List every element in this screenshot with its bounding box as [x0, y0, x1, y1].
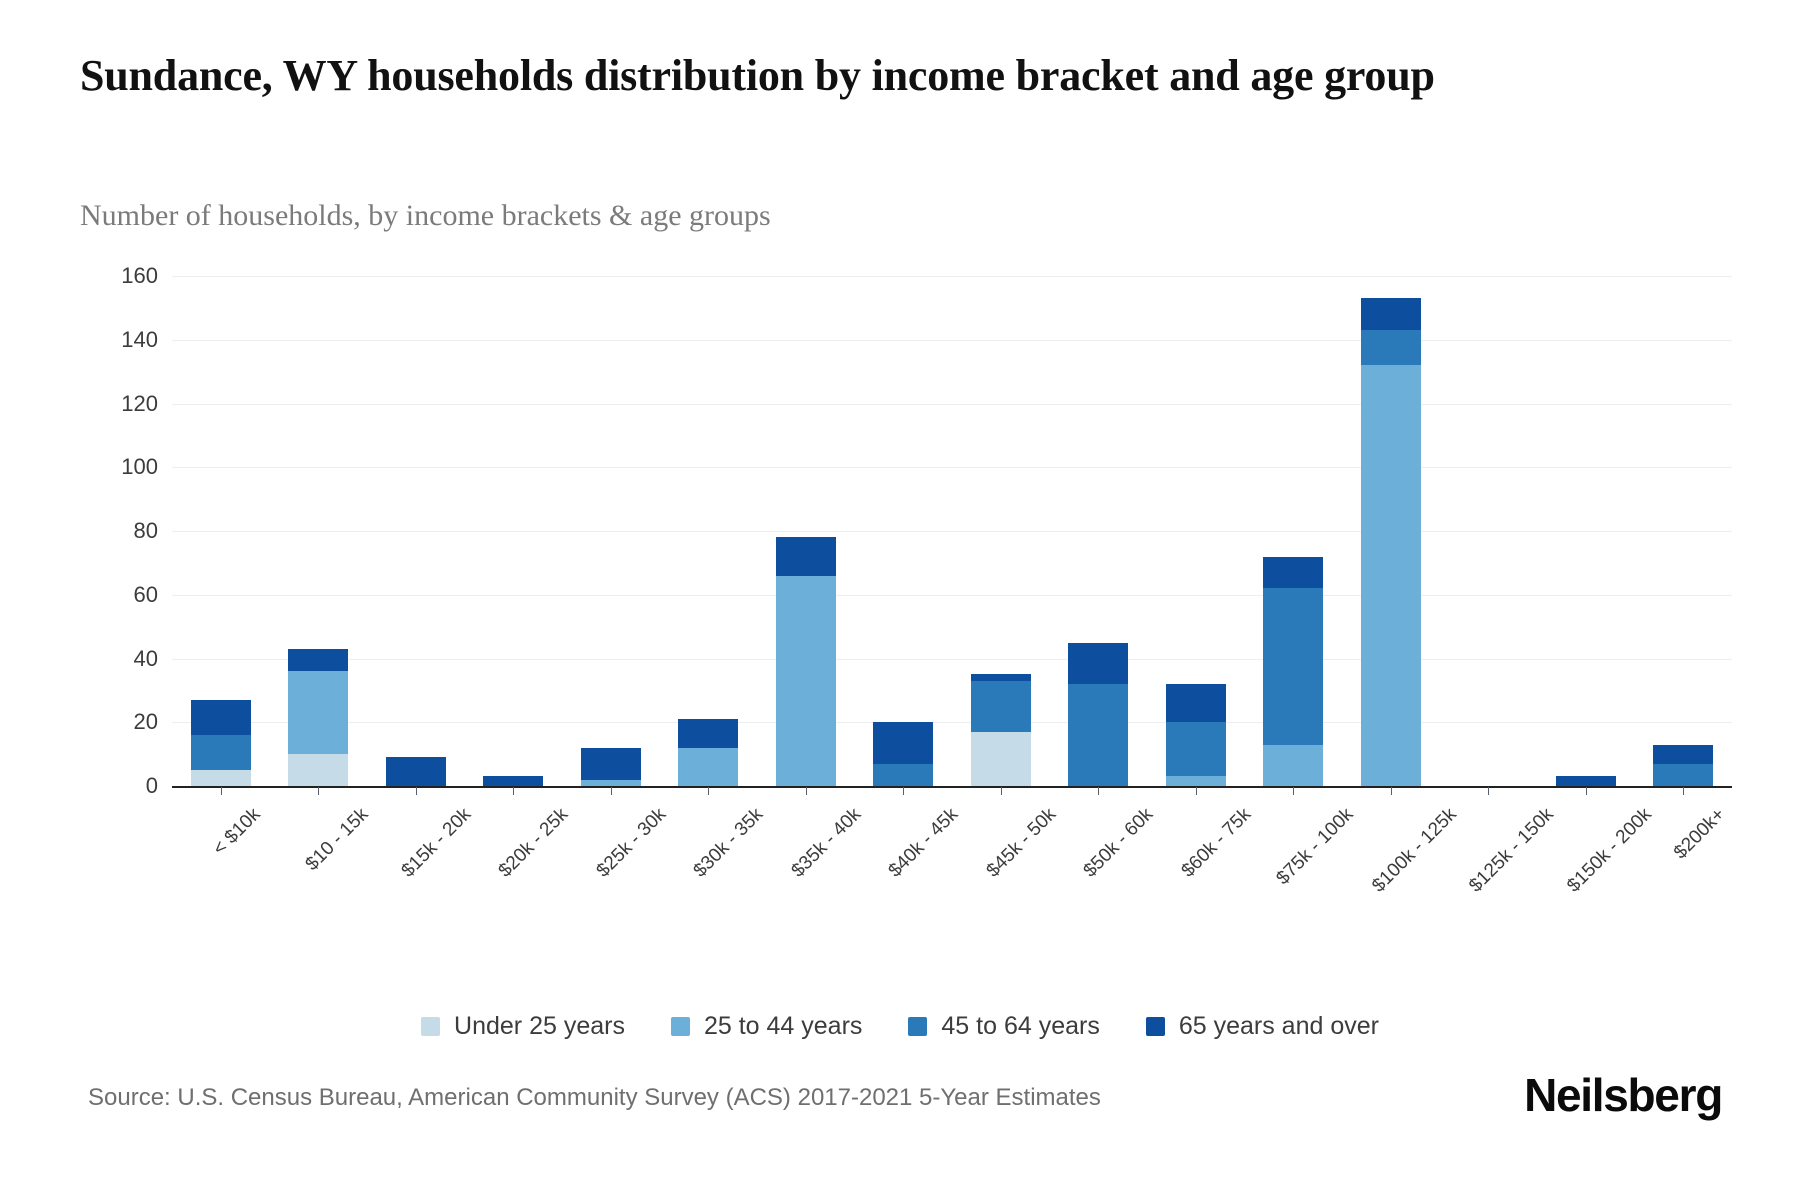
- bar-segment[interactable]: [971, 681, 1031, 732]
- legend-swatch-icon: [1146, 1017, 1165, 1036]
- x-label-slot: $40k - 45k: [855, 790, 953, 920]
- bar-stack[interactable]: [288, 649, 348, 786]
- bar-segment[interactable]: [1361, 330, 1421, 365]
- bar-segment[interactable]: [1166, 684, 1226, 722]
- bar-stack[interactable]: [1166, 684, 1226, 786]
- bar-group[interactable]: [1245, 276, 1343, 786]
- x-label-slot: < $10k: [172, 790, 270, 920]
- y-axis-tick-label: 80: [134, 518, 158, 544]
- y-axis-tick-label: 100: [121, 454, 158, 480]
- x-axis-line: [172, 786, 1732, 788]
- x-label-slot: $100k - 125k: [1342, 790, 1440, 920]
- bar-stack[interactable]: [191, 700, 251, 786]
- bar-group[interactable]: [562, 276, 660, 786]
- x-label-slot: $10 - 15k: [270, 790, 368, 920]
- bar-segment[interactable]: [191, 770, 251, 786]
- bar-segment[interactable]: [1653, 764, 1713, 786]
- bar-group[interactable]: [172, 276, 270, 786]
- y-axis: 020406080100120140160: [80, 276, 158, 786]
- legend-label: 25 to 44 years: [704, 1012, 862, 1041]
- bar-group[interactable]: [465, 276, 563, 786]
- bar-stack[interactable]: [483, 776, 543, 786]
- bar-segment[interactable]: [1263, 588, 1323, 744]
- bar-stack[interactable]: [1263, 557, 1323, 787]
- y-axis-tick-label: 20: [134, 709, 158, 735]
- chart-page: Sundance, WY households distribution by …: [0, 0, 1800, 1200]
- bar-stack[interactable]: [1361, 298, 1421, 786]
- bar-segment[interactable]: [1361, 365, 1421, 786]
- bar-segment[interactable]: [191, 735, 251, 770]
- bar-stack[interactable]: [1653, 745, 1713, 786]
- y-axis-tick-label: 60: [134, 582, 158, 608]
- x-label-slot: $200k+: [1635, 790, 1733, 920]
- bar-group[interactable]: [1537, 276, 1635, 786]
- bar-segment[interactable]: [776, 537, 836, 575]
- x-axis-label: < $10k: [209, 804, 265, 860]
- bar-segment[interactable]: [386, 757, 446, 786]
- bar-stack[interactable]: [1556, 776, 1616, 786]
- bar-stack[interactable]: [873, 722, 933, 786]
- x-label-slot: $45k - 50k: [952, 790, 1050, 920]
- y-axis-tick-label: 140: [121, 327, 158, 353]
- bar-group[interactable]: [1050, 276, 1148, 786]
- bar-segment[interactable]: [191, 700, 251, 735]
- x-label-slot: $15k - 20k: [367, 790, 465, 920]
- legend-item[interactable]: Under 25 years: [421, 1012, 625, 1041]
- bar-segment[interactable]: [971, 732, 1031, 786]
- bar-segment[interactable]: [1556, 776, 1616, 786]
- bar-group[interactable]: [1635, 276, 1733, 786]
- bar-segment[interactable]: [873, 764, 933, 786]
- bar-segment[interactable]: [1068, 684, 1128, 786]
- bar-segment[interactable]: [581, 748, 641, 780]
- legend-item[interactable]: 25 to 44 years: [671, 1012, 862, 1041]
- bar-segment[interactable]: [288, 754, 348, 786]
- legend-swatch-icon: [908, 1017, 927, 1036]
- x-label-slot: $25k - 30k: [562, 790, 660, 920]
- source-note: Source: U.S. Census Bureau, American Com…: [88, 1084, 1101, 1112]
- x-axis-label: $10 - 15k: [302, 804, 374, 876]
- bar-group[interactable]: [1342, 276, 1440, 786]
- x-axis-labels: < $10k$10 - 15k$15k - 20k$20k - 25k$25k …: [172, 790, 1732, 920]
- x-label-slot: $20k - 25k: [465, 790, 563, 920]
- legend-item[interactable]: 45 to 64 years: [908, 1012, 1099, 1041]
- bar-stack[interactable]: [1068, 643, 1128, 786]
- bar-segment[interactable]: [678, 719, 738, 748]
- bar-segment[interactable]: [1361, 298, 1421, 330]
- bar-series-area: [172, 276, 1732, 786]
- bar-segment[interactable]: [873, 722, 933, 763]
- bar-group[interactable]: [952, 276, 1050, 786]
- bar-stack[interactable]: [678, 719, 738, 786]
- legend-label: Under 25 years: [454, 1012, 625, 1041]
- bar-segment[interactable]: [1166, 722, 1226, 776]
- x-axis-label: $200k+: [1670, 804, 1730, 864]
- bar-segment[interactable]: [1653, 745, 1713, 764]
- legend-label: 65 years and over: [1179, 1012, 1379, 1041]
- x-label-slot: $35k - 40k: [757, 790, 855, 920]
- page-subtitle: Number of households, by income brackets…: [80, 198, 1480, 234]
- x-label-slot: $150k - 200k: [1537, 790, 1635, 920]
- bar-segment[interactable]: [776, 576, 836, 786]
- chart-legend: Under 25 years25 to 44 years45 to 64 yea…: [0, 1012, 1800, 1041]
- bar-stack[interactable]: [581, 748, 641, 786]
- bar-stack[interactable]: [386, 757, 446, 786]
- bar-segment[interactable]: [288, 649, 348, 671]
- bar-segment[interactable]: [1263, 745, 1323, 786]
- bar-stack[interactable]: [776, 537, 836, 786]
- x-label-slot: $125k - 150k: [1440, 790, 1538, 920]
- y-axis-tick-label: 40: [134, 646, 158, 672]
- bar-segment[interactable]: [483, 776, 543, 786]
- y-axis-tick-label: 0: [146, 773, 158, 799]
- legend-swatch-icon: [671, 1017, 690, 1036]
- bar-segment[interactable]: [1166, 776, 1226, 786]
- bar-group[interactable]: [855, 276, 953, 786]
- bar-group[interactable]: [270, 276, 368, 786]
- page-title: Sundance, WY households distribution by …: [80, 48, 1640, 104]
- brand-logo: Neilsberg: [1524, 1068, 1722, 1122]
- bar-group[interactable]: [367, 276, 465, 786]
- bar-stack[interactable]: [971, 674, 1031, 786]
- legend-item[interactable]: 65 years and over: [1146, 1012, 1379, 1041]
- bar-group[interactable]: [1440, 276, 1538, 786]
- bar-segment[interactable]: [1068, 643, 1128, 684]
- bar-segment[interactable]: [678, 748, 738, 786]
- y-axis-tick-label: 160: [121, 263, 158, 289]
- bar-segment[interactable]: [1263, 557, 1323, 589]
- x-label-slot: $30k - 35k: [660, 790, 758, 920]
- bar-group[interactable]: [660, 276, 758, 786]
- x-label-slot: $50k - 60k: [1050, 790, 1148, 920]
- bar-group[interactable]: [1147, 276, 1245, 786]
- legend-swatch-icon: [421, 1017, 440, 1036]
- bar-segment[interactable]: [288, 671, 348, 754]
- y-axis-tick-label: 120: [121, 391, 158, 417]
- bar-group[interactable]: [757, 276, 855, 786]
- bar-segment[interactable]: [581, 780, 641, 786]
- x-label-slot: $75k - 100k: [1245, 790, 1343, 920]
- x-label-slot: $60k - 75k: [1147, 790, 1245, 920]
- legend-label: 45 to 64 years: [941, 1012, 1099, 1041]
